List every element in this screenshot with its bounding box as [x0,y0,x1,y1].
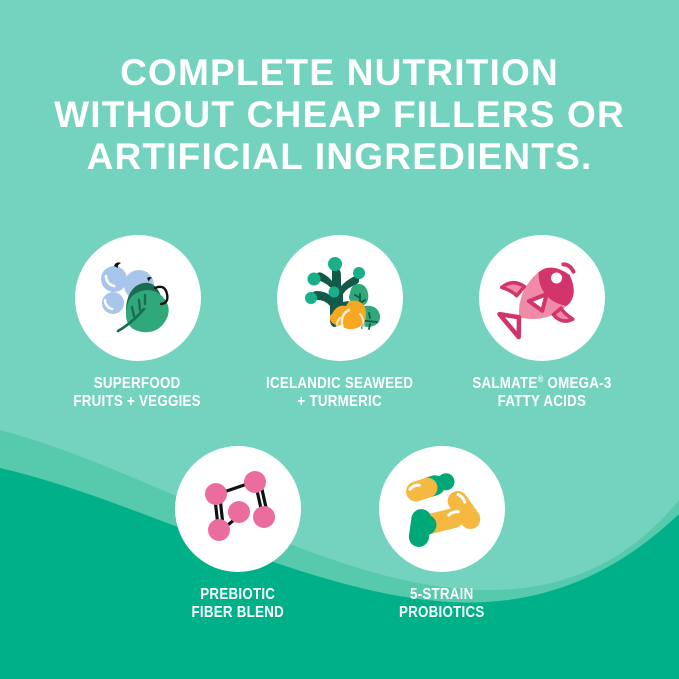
feature-row-bottom: PREBIOTIC FIBER BLEND [0,446,679,622]
label-line-2: + TURMERIC [266,393,413,411]
icelandic-seaweed-turmeric-icon [294,252,386,344]
label-line-1: SUPERFOOD [74,375,201,393]
label-line-2: FIBER BLEND [191,604,283,622]
badge-circle-fiber [175,446,301,572]
feature-salmate-omega3[interactable]: SALMATE® OMEGA-3 FATTY ACIDS [479,235,605,411]
trademark-symbol: ® [537,374,543,384]
feature-5-strain-probiotics[interactable]: 5-STRAIN PROBIOTICS [379,446,505,622]
feature-superfood-fruits-veggies[interactable]: SUPERFOOD FRUITS + VEGGIES [75,235,201,411]
feature-label-fiber: PREBIOTIC FIBER BLEND [191,586,283,622]
badge-circle-salmon [479,235,605,361]
label-line-2: FATTY ACIDS [472,393,611,411]
probiotics-capsules-icon [396,463,488,555]
label-line-2: FRUITS + VEGGIES [74,393,201,411]
feature-icelandic-seaweed-turmeric[interactable]: ICELANDIC SEAWEED + TURMERIC [277,235,403,411]
badge-circle-probiotics [379,446,505,572]
superfood-fruits-veggies-icon [92,252,184,344]
feature-label-probiotics: 5-STRAIN PROBIOTICS [399,586,485,622]
label-line-1: SALMATE® OMEGA-3 [472,375,611,393]
feature-row-top: SUPERFOOD FRUITS + VEGGIES [0,235,679,411]
brand-name: SALMATE [472,375,537,392]
feature-label-superfood: SUPERFOOD FRUITS + VEGGIES [74,375,201,411]
badge-circle-superfood [75,235,201,361]
page-title: COMPLETE NUTRITION WITHOUT CHEAP FILLERS… [0,52,679,178]
badge-circle-seaweed [277,235,403,361]
headline-line-1: COMPLETE NUTRITION [0,52,679,94]
feature-prebiotic-fiber-blend[interactable]: PREBIOTIC FIBER BLEND [175,446,301,622]
headline-line-2: WITHOUT CHEAP FILLERS OR [0,94,679,136]
headline-line-3: ARTIFICIAL INGREDIENTS. [0,136,679,178]
label-line-2: PROBIOTICS [399,604,485,622]
feature-label-salmate: SALMATE® OMEGA-3 FATTY ACIDS [472,375,611,411]
salmate-omega3-fish-icon [496,252,588,344]
label-line-1: PREBIOTIC [191,586,283,604]
label-line-1: 5-STRAIN [399,586,485,604]
label-suffix: OMEGA-3 [543,375,611,392]
label-line-1: ICELANDIC SEAWEED [266,375,413,393]
prebiotic-fiber-molecule-icon [192,463,284,555]
feature-label-seaweed: ICELANDIC SEAWEED + TURMERIC [266,375,413,411]
nutrition-infographic-poster: COMPLETE NUTRITION WITHOUT CHEAP FILLERS… [0,0,679,679]
